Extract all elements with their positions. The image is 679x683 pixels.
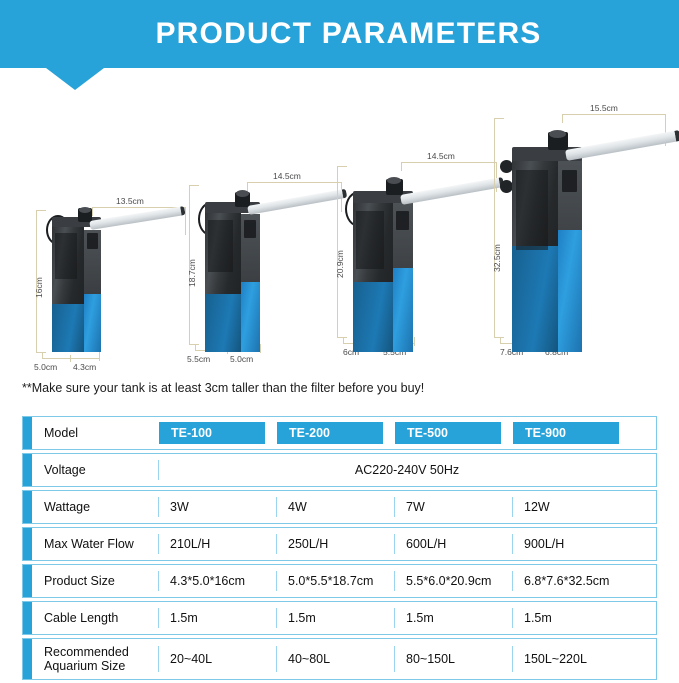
size-te-500: 5.5*6.0*20.9cm [394, 565, 512, 597]
row-label-line-1: Recommended [44, 645, 129, 659]
flow-te-100: 210L/H [158, 528, 276, 560]
table-row-cable-length: Cable Length 1.5m 1.5m 1.5m 1.5m [22, 601, 657, 635]
row-label: Model [32, 417, 158, 449]
aquarium-te-200: 40~80L [276, 639, 394, 679]
model-cell-te-100: TE-100 [158, 417, 276, 449]
outlet-tube-end-cap [89, 206, 185, 230]
device-vent-slots [356, 211, 384, 269]
device-blue-panel [393, 268, 413, 352]
row-label: Max Water Flow [32, 528, 158, 560]
row-accent-tab [23, 454, 32, 486]
model-chip: TE-900 [513, 422, 619, 444]
table-row-wattage: Wattage 3W 4W 7W 12W [22, 490, 657, 524]
dim-height-tick-top [494, 118, 504, 119]
product-illustration-te-500: 20.9cm 14.5cm 6cm 5.5cm [325, 100, 505, 365]
product-illustration-te-900: 32.5cm 15.5cm 7.6cm 6.8cm [480, 100, 679, 365]
wattage-te-200: 4W [276, 491, 394, 523]
device-vent-slots [516, 170, 548, 250]
product-illustration-te-200: 18.7cm 14.5cm 5.5cm 5.0cm [175, 107, 350, 365]
cable-te-900: 1.5m [512, 602, 645, 634]
model-chip: TE-200 [277, 422, 383, 444]
wattage-te-100: 3W [158, 491, 276, 523]
flow-te-500: 600L/H [394, 528, 512, 560]
device-blue-panel-edge [353, 282, 393, 352]
device-blue-panel-edge [52, 304, 84, 352]
dim-tube-label: 13.5cm [116, 196, 144, 206]
row-label: Recommended Aquarium Size [32, 639, 158, 679]
dim-height-line [494, 118, 495, 337]
device-cap-ring [79, 207, 91, 213]
device-blue-panel [241, 282, 260, 352]
model-chip: TE-100 [159, 422, 265, 444]
dim-height-tick-top [337, 166, 347, 167]
dim-height-tick-bottom [36, 352, 46, 353]
flow-te-900: 900L/H [512, 528, 645, 560]
wattage-te-500: 7W [394, 491, 512, 523]
device-blue-panel-edge [512, 246, 558, 352]
dim-depth-tick-left [42, 352, 43, 359]
row-accent-tab [23, 417, 32, 449]
row-label: Wattage [32, 491, 158, 523]
dim-tube-tick-left [562, 114, 563, 123]
device-spec-label [244, 220, 256, 238]
table-row-product-size: Product Size 4.3*5.0*16cm 5.0*5.5*18.7cm… [22, 564, 657, 598]
outlet-tube-end-cap [565, 130, 679, 161]
device-cap-ring [387, 177, 401, 184]
row-accent-tab [23, 528, 32, 560]
row-label: Product Size [32, 565, 158, 597]
device-vent-slots [208, 220, 233, 272]
aquarium-te-900: 150L~220L [512, 639, 645, 679]
model-cell-te-200: TE-200 [276, 417, 394, 449]
dim-tube-label: 14.5cm [427, 151, 455, 161]
model-chip: TE-500 [395, 422, 501, 444]
device-spec-label [87, 233, 98, 249]
dim-width-label: 5.0cm [230, 354, 253, 364]
model-cell-te-900: TE-900 [512, 417, 645, 449]
dim-tube-tick-left [401, 162, 402, 171]
flow-te-200: 250L/H [276, 528, 394, 560]
page-header-banner: PRODUCT PARAMETERS [0, 0, 679, 68]
filter-device-body [195, 190, 273, 352]
table-row-recommended-aquarium-size: Recommended Aquarium Size 20~40L 40~80L … [22, 638, 657, 680]
dim-tube-label: 15.5cm [590, 103, 618, 113]
filter-device-body [500, 130, 595, 352]
banner-notch-triangle [46, 68, 104, 90]
size-te-900: 6.8*7.6*32.5cm [512, 565, 645, 597]
dim-depth-label: 5.0cm [34, 362, 57, 372]
row-label: Cable Length [32, 602, 158, 634]
cable-te-200: 1.5m [276, 602, 394, 634]
device-cap-ring [236, 190, 249, 197]
product-showcase: 16cm 13.5cm 5.0cm 4.3cm [0, 100, 679, 365]
size-te-200: 5.0*5.5*18.7cm [276, 565, 394, 597]
row-accent-tab [23, 602, 32, 634]
cable-te-100: 1.5m [158, 602, 276, 634]
device-blue-panel [84, 294, 101, 352]
model-cell-te-500: TE-500 [394, 417, 512, 449]
table-row-max-water-flow: Max Water Flow 210L/H 250L/H 600L/H 900L… [22, 527, 657, 561]
dim-tube-label: 14.5cm [273, 171, 301, 181]
dim-depth-tick-mid [70, 355, 71, 362]
dim-depth-label: 5.5cm [187, 354, 210, 364]
product-illustration-te-100: 16cm 13.5cm 5.0cm 4.3cm [20, 115, 190, 365]
device-blue-panel-edge [205, 294, 241, 352]
purchase-warning-note: **Make sure your tank is at least 3cm ta… [22, 381, 424, 395]
row-accent-tab [23, 491, 32, 523]
dim-tube-line [562, 114, 666, 115]
row-label: Voltage [32, 454, 158, 486]
size-te-100: 4.3*5.0*16cm [158, 565, 276, 597]
cable-te-500: 1.5m [394, 602, 512, 634]
row-accent-tab [23, 565, 32, 597]
aquarium-te-500: 80~150L [394, 639, 512, 679]
dim-bottom-line [42, 358, 100, 359]
dim-width-label: 4.3cm [73, 362, 96, 372]
page-title: PRODUCT PARAMETERS [0, 0, 679, 68]
filter-device-body [343, 177, 427, 352]
device-spec-label [562, 170, 577, 192]
dim-height-tick-top [189, 185, 199, 186]
aquarium-te-100: 20~40L [158, 639, 276, 679]
product-parameters-table: Model TE-100 TE-200 TE-500 TE-900 Voltag… [22, 416, 657, 683]
device-cap-ring [549, 130, 566, 138]
device-vent-slots [55, 233, 77, 279]
voltage-value: AC220-240V 50Hz [158, 454, 656, 486]
table-row-model: Model TE-100 TE-200 TE-500 TE-900 [22, 416, 657, 450]
filter-device-body [42, 207, 112, 352]
row-label-line-2: Aquarium Size [44, 659, 125, 673]
dim-width-tick-right [99, 352, 100, 361]
device-spec-label [396, 211, 409, 230]
device-blue-panel [558, 230, 582, 352]
row-accent-tab [23, 639, 32, 679]
table-row-voltage: Voltage AC220-240V 50Hz [22, 453, 657, 487]
wattage-te-900: 12W [512, 491, 645, 523]
